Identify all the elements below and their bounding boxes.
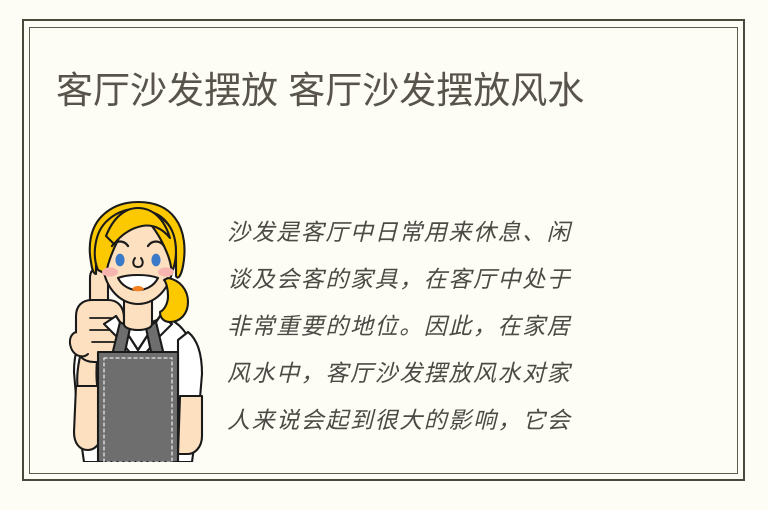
body-line: 非常重要的地位。因此，在家居 [227, 303, 659, 350]
body-line: 沙发是客厅中日常用来休息、闲 [227, 209, 659, 256]
right-arm [178, 396, 202, 454]
illustration-cartoon-woman [68, 200, 208, 462]
blush-left [102, 267, 118, 276]
blush-right [158, 267, 174, 276]
shirt-right-sleeve [178, 332, 202, 398]
eye-right [151, 254, 160, 267]
body-line: 谈及会客的家具，在客厅中处于 [227, 256, 659, 303]
eye-left [115, 254, 124, 267]
article-body: 沙发是客厅中日常用来休息、闲 谈及会客的家具，在客厅中处于 非常重要的地位。因此… [227, 209, 659, 461]
page-title: 客厅沙发摆放 客厅沙发摆放风水 [56, 68, 584, 114]
article-card: 客厅沙发摆放 客厅沙发摆放风水 [0, 0, 768, 510]
body-line: 人来说会起到很大的影响，它会 [227, 397, 659, 444]
apron-body [98, 352, 178, 462]
body-line: 风水中，客厅沙发摆放风水对家 [227, 350, 659, 397]
